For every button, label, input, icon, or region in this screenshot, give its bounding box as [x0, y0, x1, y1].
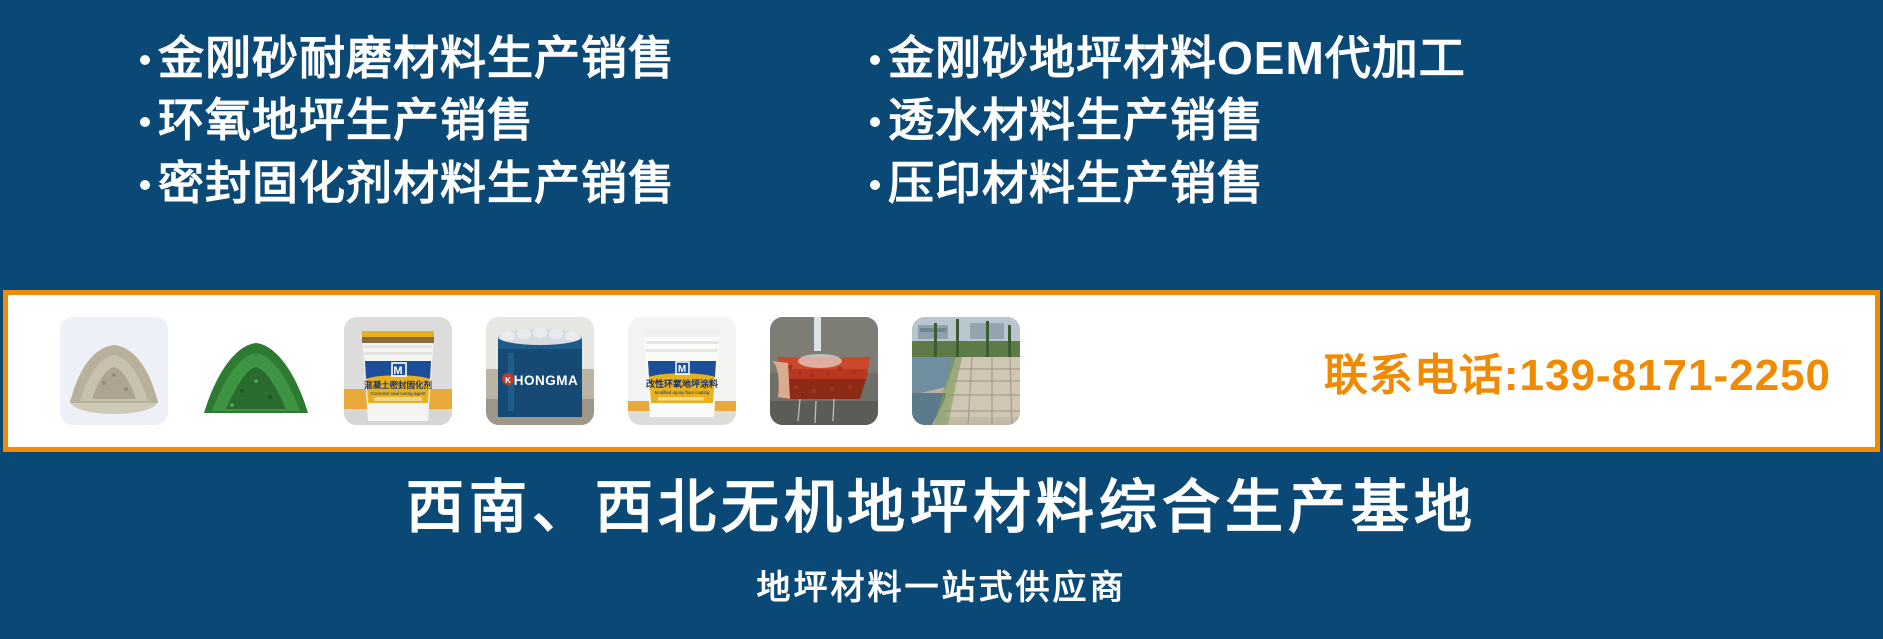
service-item: 金刚砂耐磨材料生产销售: [140, 34, 860, 82]
svg-text:HONGMA: HONGMA: [514, 373, 579, 388]
services-section: 金刚砂耐磨材料生产销售 环氧地坪生产销售 密封固化剂材料生产销售 金刚砂地坪材料…: [0, 34, 1883, 244]
service-label: 金刚砂耐磨材料生产销售: [158, 34, 675, 82]
product-thumbnail-epoxy-floor-coating[interactable]: M 改性环氧地坪涂料 Modified epoxy floor coating: [628, 317, 736, 425]
service-label: 金刚砂地坪材料OEM代加工: [888, 34, 1466, 82]
contact-phone[interactable]: 联系电话:139-8171-2250: [1324, 339, 1831, 403]
bullet-dot-icon: [140, 117, 150, 127]
product-thumbnail-sealing-curing-agent[interactable]: M 混凝土密封固化剂 Concrete seal curing agent: [344, 317, 452, 425]
svg-text:M: M: [678, 364, 686, 375]
svg-text:M: M: [393, 365, 402, 377]
service-item: 压印材料生产销售: [870, 159, 1770, 207]
service-label: 压印材料生产销售: [888, 159, 1264, 207]
service-item: 环氧地坪生产销售: [140, 96, 860, 144]
bullet-dot-icon: [870, 55, 880, 65]
bullet-dot-icon: [140, 180, 150, 190]
footer-headline: 西南、西北无机地坪材料综合生产基地: [0, 460, 1883, 544]
svg-text:Concrete seal curing agent: Concrete seal curing agent: [371, 391, 427, 396]
svg-text:改性环氧地坪涂料: 改性环氧地坪涂料: [646, 378, 718, 390]
service-item: 透水材料生产销售: [870, 96, 1770, 144]
bullet-dot-icon: [140, 55, 150, 65]
svg-text:K: K: [505, 376, 511, 385]
svg-text:Modified epoxy floor coating: Modified epoxy floor coating: [655, 390, 710, 395]
bullet-dot-icon: [870, 180, 880, 190]
service-item: 金刚砂地坪材料OEM代加工: [870, 34, 1770, 82]
service-item: 密封固化剂材料生产销售: [140, 159, 860, 207]
promotional-banner: 金刚砂耐磨材料生产销售 环氧地坪生产销售 密封固化剂材料生产销售 金刚砂地坪材料…: [0, 0, 1883, 639]
product-showcase-panel: M 混凝土密封固化剂 Concrete seal curing agent: [3, 290, 1880, 452]
product-thumbnail-stamped-walkway[interactable]: [912, 317, 1020, 425]
services-right-column: 金刚砂地坪材料OEM代加工 透水材料生产销售 压印材料生产销售: [870, 34, 1770, 207]
service-label: 密封固化剂材料生产销售: [158, 159, 675, 207]
svg-text:混凝土密封固化剂: 混凝土密封固化剂: [364, 380, 432, 391]
product-thumbnail-emery-powder[interactable]: [60, 317, 168, 425]
bullet-dot-icon: [870, 117, 880, 127]
services-left-column: 金刚砂耐磨材料生产销售 环氧地坪生产销售 密封固化剂材料生产销售: [140, 34, 860, 207]
footer-subtitle: 地坪材料一站式供应商: [0, 560, 1883, 609]
product-thumbnail-strip: M 混凝土密封固化剂 Concrete seal curing agent: [60, 317, 1020, 425]
product-thumbnail-green-powder[interactable]: [202, 317, 310, 425]
service-label: 环氧地坪生产销售: [158, 96, 534, 144]
product-thumbnail-permeable-concrete[interactable]: [770, 317, 878, 425]
product-thumbnail-hongma-drum[interactable]: K HONGMA: [486, 317, 594, 425]
service-label: 透水材料生产销售: [888, 96, 1264, 144]
